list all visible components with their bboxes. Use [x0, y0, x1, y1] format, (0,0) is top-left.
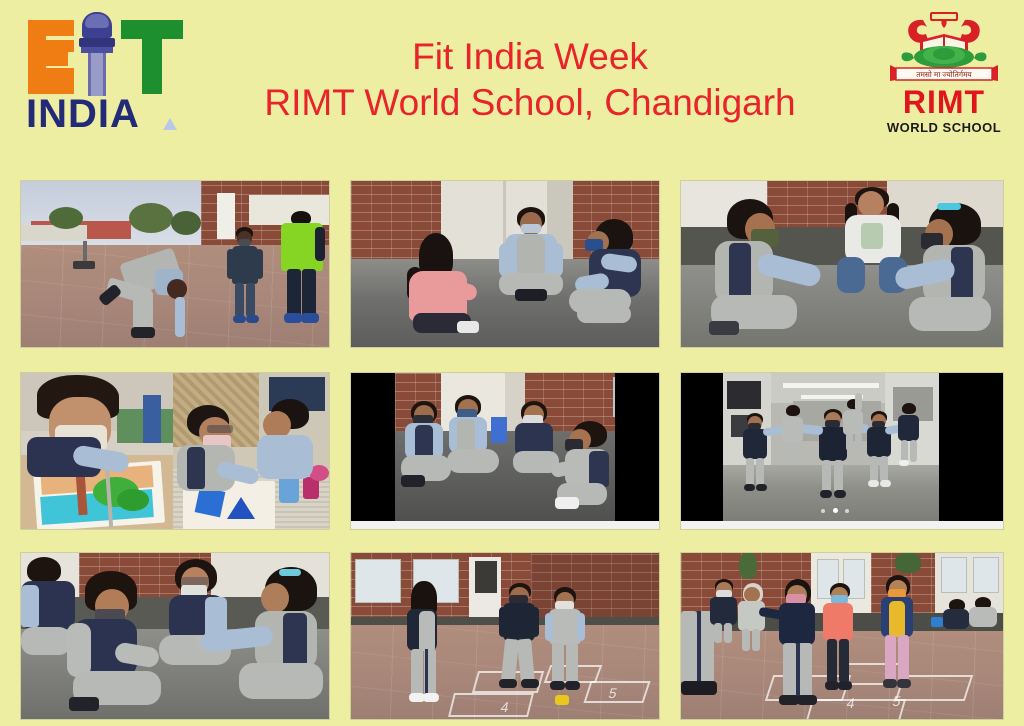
student-figure: [27, 375, 137, 471]
letter-f-mid-bar: [28, 52, 68, 66]
fit-logo-wordmark: [26, 12, 186, 94]
pillar-shaft: [88, 53, 106, 96]
letter-f-top-bar: [28, 20, 74, 36]
student-figure: [99, 245, 205, 341]
photo-9-group-hopscotch[interactable]: 4 5: [680, 552, 1004, 720]
student-figure: [739, 413, 771, 497]
photo-8-hopscotch-courtyard[interactable]: 4 5: [350, 552, 660, 720]
student-figure: [493, 207, 569, 325]
photo-5-circle-game-letterboxed[interactable]: [350, 372, 660, 530]
poster-header: INDIA Fit India Week RIMT World School, …: [0, 0, 1024, 160]
letter-t-glyph: [121, 20, 183, 94]
student-figure: [551, 421, 617, 519]
photo-3-hand-stack-game[interactable]: [680, 180, 1004, 348]
student-figure: [821, 583, 857, 695]
photo-7-clapping-game[interactable]: [20, 552, 330, 720]
student-figure: [863, 411, 895, 491]
ashoka-pillar-icon: [78, 12, 116, 96]
fit-india-logo: INDIA: [26, 12, 186, 136]
rimt-brand-text: RIMT: [882, 86, 1006, 118]
photo-gallery-grid: 4 5: [20, 180, 1004, 720]
rimt-crest-icon: तमसो मा ज्योतिर्गमय: [890, 10, 998, 84]
student-figure: [969, 597, 999, 631]
letter-t-top-bar: [121, 20, 183, 39]
student-figure: [877, 575, 917, 695]
photo-4-art-activity[interactable]: [20, 372, 330, 530]
student-figure: [895, 403, 923, 469]
rimt-school-logo: तमसो मा ज्योतिर्गमय RIMT WORLD SCHOOL: [882, 10, 1006, 138]
student-figure: [395, 233, 481, 337]
photo-1-outdoor-stretch[interactable]: [20, 180, 330, 348]
poster-title: Fit India Week RIMT World School, Chandi…: [190, 34, 870, 126]
rimt-subtitle-text: WORLD SCHOOL: [882, 120, 1006, 135]
student-figure: [279, 211, 325, 329]
student-figure: [735, 583, 769, 651]
letter-t-stem: [142, 39, 162, 94]
student-figure: [227, 227, 263, 327]
india-text: INDIA: [26, 92, 140, 136]
student-figure: [567, 219, 655, 335]
title-line-2: RIMT World School, Chandigarh: [190, 80, 870, 126]
student-figure: [177, 405, 251, 489]
title-line-1: Fit India Week: [190, 34, 870, 80]
student-figure: [773, 579, 825, 709]
pillar-abacus: [79, 38, 115, 47]
india-a-triangle: [163, 118, 177, 130]
svg-text:तमसो मा ज्योतिर्गमय: तमसो मा ज्योतिर्गमय: [916, 70, 972, 79]
photo-2-floor-game[interactable]: [350, 180, 660, 348]
student-figure: [445, 395, 501, 499]
pillar-lions: [85, 14, 109, 28]
student-figure: [403, 581, 445, 705]
student-figure: [779, 405, 807, 469]
student-figure: [545, 587, 585, 699]
student-figure: [221, 567, 329, 715]
student-figure: [841, 399, 867, 455]
student-figure: [499, 583, 539, 695]
student-figure: [257, 399, 321, 481]
photo-6-corridor-exercise-letterboxed[interactable]: [680, 372, 1004, 530]
student-figure: [701, 199, 829, 339]
fit-logo-india-word: INDIA: [26, 92, 186, 136]
student-figure: [893, 203, 1003, 343]
